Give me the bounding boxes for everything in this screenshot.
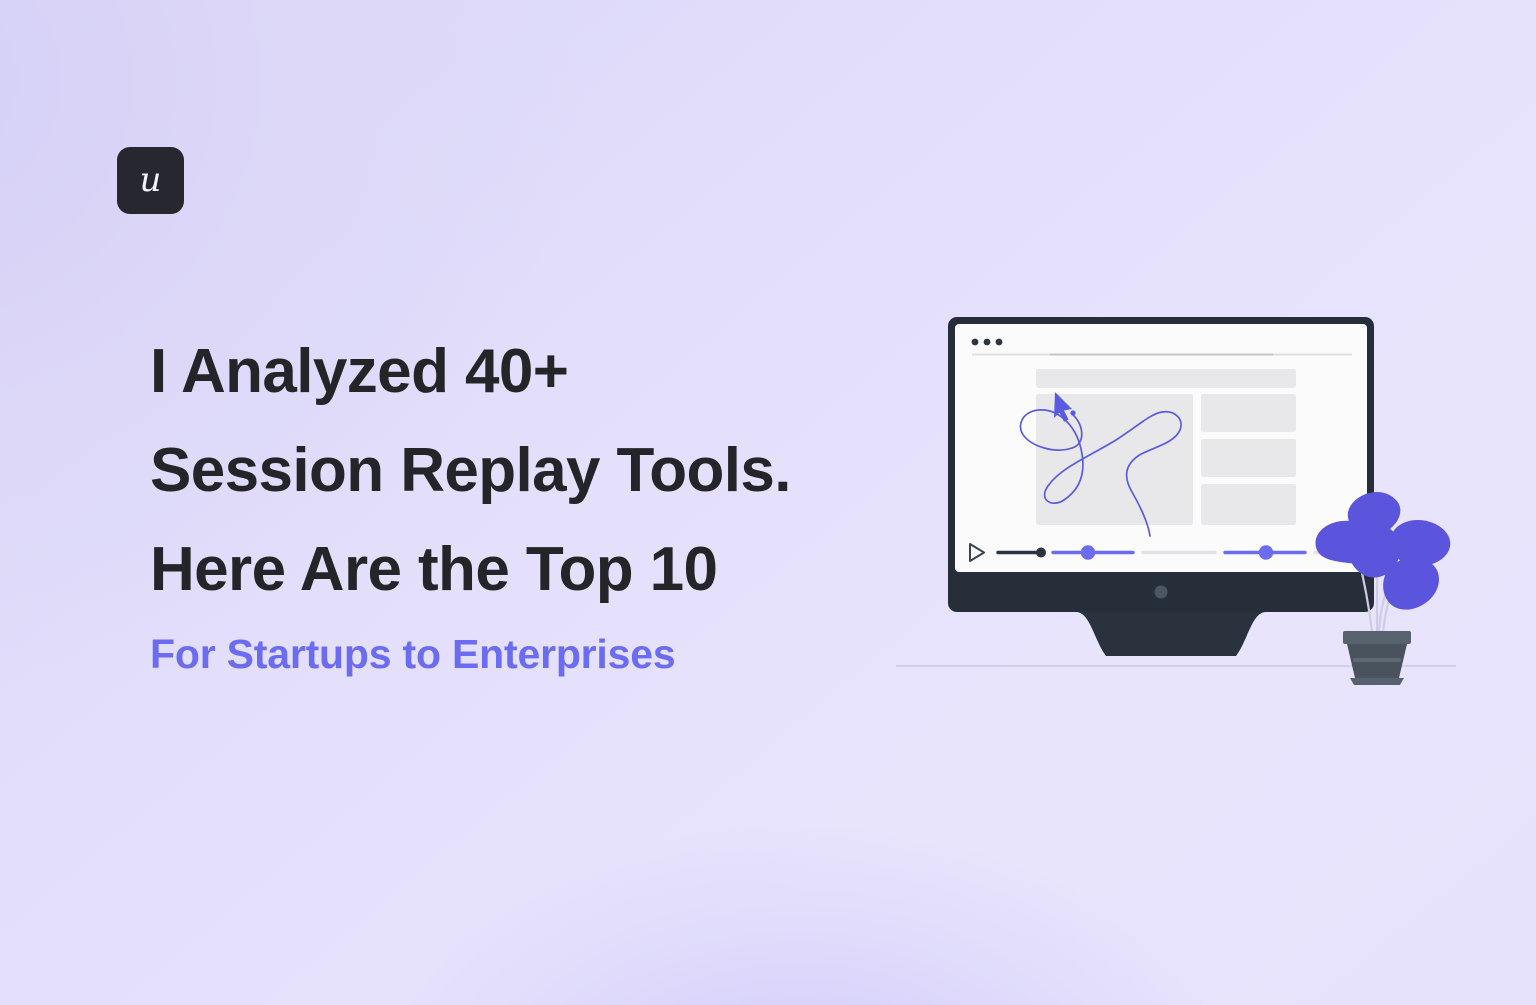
- monitor-camera-dot: [1155, 586, 1168, 599]
- hero-banner: u I Analyzed 40+ Session Replay Tools. H…: [0, 0, 1536, 1005]
- timeline-handle-2[interactable]: [1081, 545, 1095, 559]
- pot-stripe: [1353, 658, 1401, 662]
- logo-letter-u: u: [140, 163, 162, 197]
- headline-line-2: Session Replay Tools.: [150, 421, 890, 520]
- timeline-handle-1[interactable]: [1036, 548, 1046, 558]
- trail-origin-dot: [1070, 410, 1075, 415]
- pot-foot: [1350, 678, 1404, 685]
- placeholder-right-panel-1: [1201, 394, 1296, 432]
- window-dots: [972, 339, 1003, 346]
- plant-pot: [1343, 631, 1411, 685]
- placeholder-left-panel: [1036, 394, 1193, 525]
- hero-copy: I Analyzed 40+ Session Replay Tools. Her…: [150, 322, 890, 678]
- headline-line-3: Here Are the Top 10: [150, 520, 890, 619]
- timeline-handle-3[interactable]: [1259, 545, 1273, 559]
- session-replay-monitor-illustration: [880, 280, 1480, 700]
- hero-subhead: For Startups to Enterprises: [150, 619, 890, 678]
- headline-line-1: I Analyzed 40+: [150, 322, 890, 421]
- userpilot-logo[interactable]: u: [117, 147, 184, 214]
- monitor-stand: [1076, 612, 1266, 656]
- placeholder-header-bar: [1036, 369, 1296, 388]
- placeholder-right-panel-2: [1201, 439, 1296, 477]
- pot-rim: [1343, 631, 1411, 644]
- placeholder-right-panel-3: [1201, 484, 1296, 525]
